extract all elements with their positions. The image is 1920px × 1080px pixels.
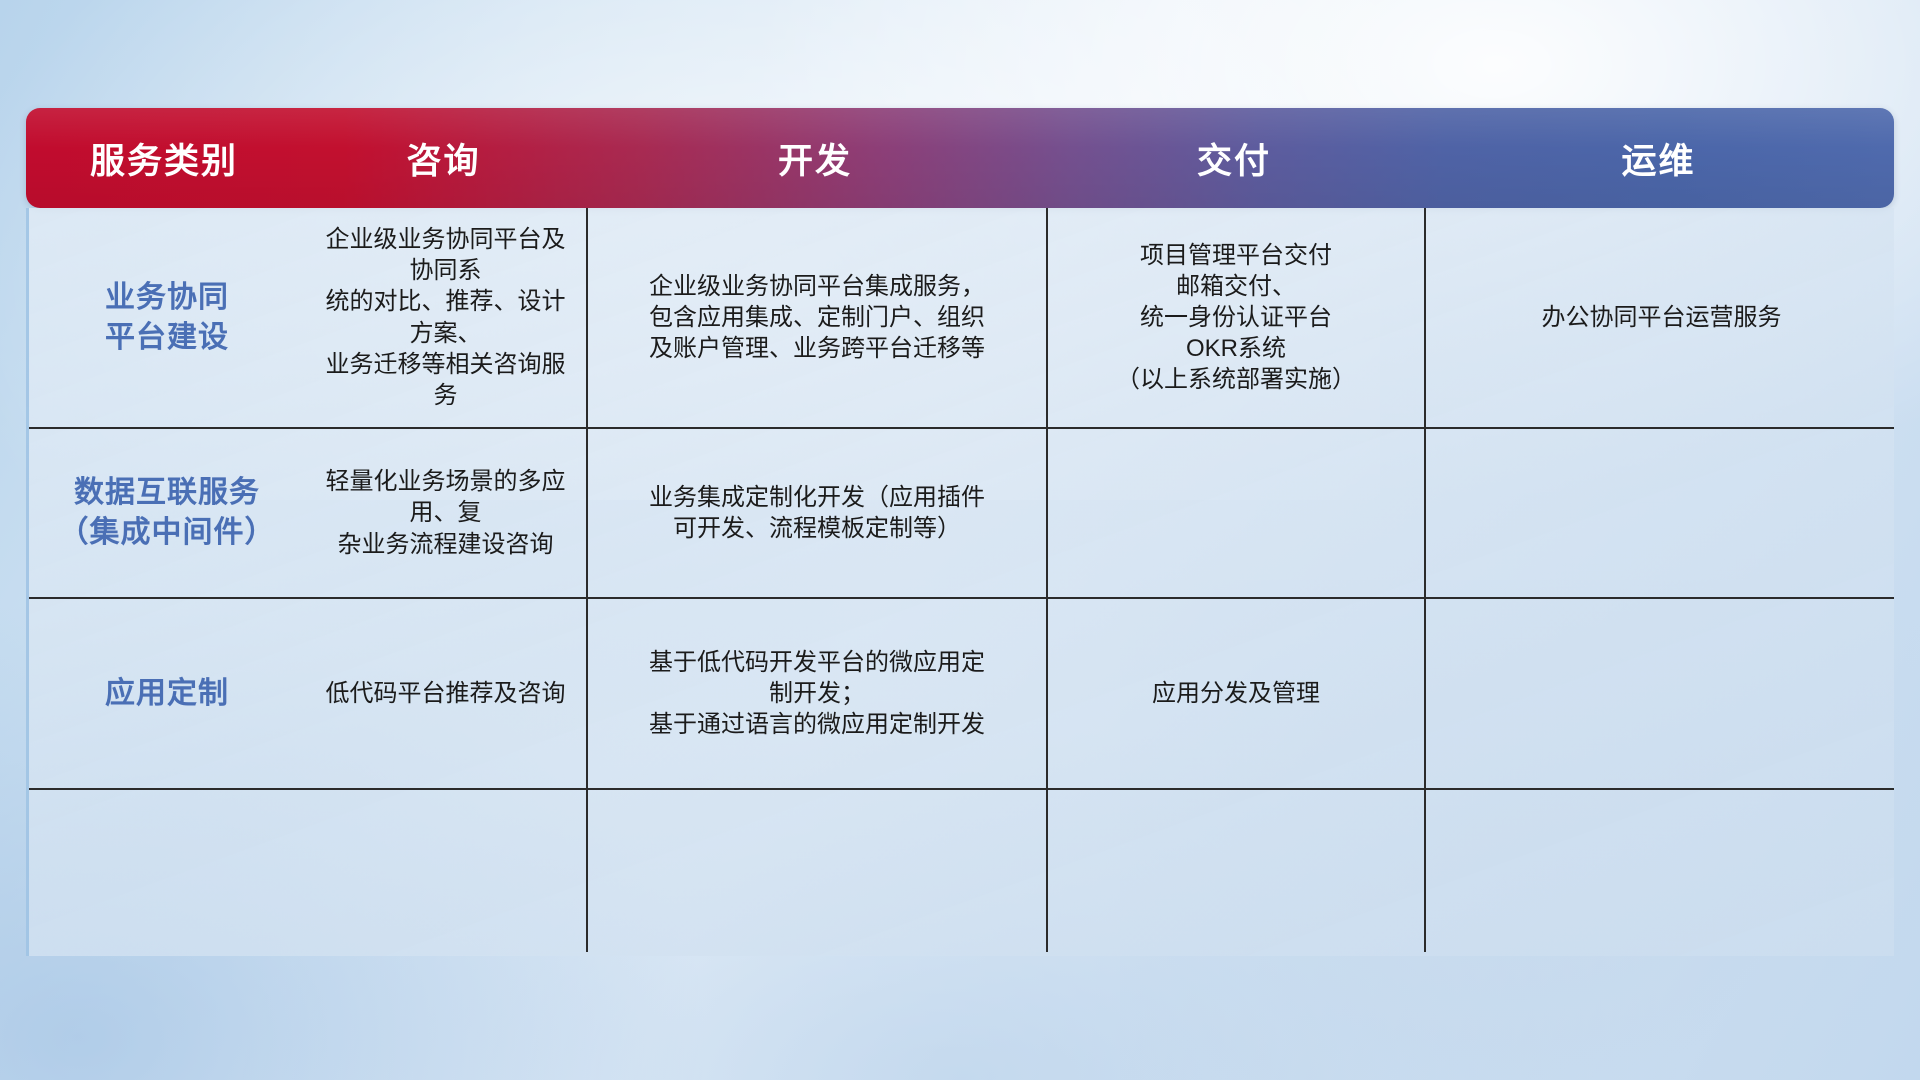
column-header-consulting: 咨询 bbox=[302, 133, 585, 184]
cell-development-r2: 业务集成定制化开发（应用插件 可开发、流程模板定制等） bbox=[588, 429, 1048, 597]
cell-development-r3: 基于低代码开发平台的微应用定 制开发； 基于通过语言的微应用定制开发 bbox=[588, 599, 1048, 788]
table-body: 业务协同 平台建设 企业级业务协同平台及协同系 统的对比、推荐、设计方案、 业务… bbox=[26, 208, 1894, 956]
column-header-development: 开发 bbox=[585, 133, 1045, 184]
cell-operations-r3 bbox=[1426, 599, 1897, 788]
row-label-data-interconnect: 数据互联服务 （集成中间件） bbox=[29, 429, 305, 597]
spacer-cell-category bbox=[29, 790, 305, 952]
table-row: 业务协同 平台建设 企业级业务协同平台及协同系 统的对比、推荐、设计方案、 业务… bbox=[29, 208, 1894, 429]
slide-canvas: 服务类别 咨询 开发 交付 运维 业务协同 平台建设 企业级业务协同平台及协同系… bbox=[0, 0, 1920, 1080]
table-row: 应用定制 低代码平台推荐及咨询 基于低代码开发平台的微应用定 制开发； 基于通过… bbox=[29, 599, 1894, 790]
row-label-business-collaboration: 业务协同 平台建设 bbox=[29, 208, 305, 427]
table-header-row: 服务类别 咨询 开发 交付 运维 bbox=[26, 108, 1894, 208]
spacer-cell-consulting bbox=[305, 790, 588, 952]
spacer-cell-delivery bbox=[1048, 790, 1426, 952]
cell-delivery-r3: 应用分发及管理 bbox=[1048, 599, 1426, 788]
cell-operations-r2 bbox=[1426, 429, 1897, 597]
cell-consulting-r3: 低代码平台推荐及咨询 bbox=[305, 599, 588, 788]
row-label-app-customization: 应用定制 bbox=[29, 599, 305, 788]
cell-delivery-r1: 项目管理平台交付 邮箱交付、 统一身份认证平台 OKR系统 （以上系统部署实施） bbox=[1048, 208, 1426, 427]
cell-operations-r1: 办公协同平台运营服务 bbox=[1426, 208, 1897, 427]
spacer-cell-operations bbox=[1426, 790, 1897, 952]
service-category-table: 服务类别 咨询 开发 交付 运维 业务协同 平台建设 企业级业务协同平台及协同系… bbox=[26, 108, 1894, 956]
cell-delivery-r2 bbox=[1048, 429, 1426, 597]
spacer-cell-development bbox=[588, 790, 1048, 952]
table-row: 数据互联服务 （集成中间件） 轻量化业务场景的多应用、复 杂业务流程建设咨询 业… bbox=[29, 429, 1894, 599]
column-header-category: 服务类别 bbox=[26, 133, 302, 184]
table-trailing-band bbox=[29, 790, 1894, 952]
cell-consulting-r2: 轻量化业务场景的多应用、复 杂业务流程建设咨询 bbox=[305, 429, 588, 597]
column-header-operations: 运维 bbox=[1423, 133, 1894, 184]
cell-consulting-r1: 企业级业务协同平台及协同系 统的对比、推荐、设计方案、 业务迁移等相关咨询服务 bbox=[305, 208, 588, 427]
column-header-delivery: 交付 bbox=[1045, 133, 1423, 184]
cell-development-r1: 企业级业务协同平台集成服务， 包含应用集成、定制门户、组织 及账户管理、业务跨平… bbox=[588, 208, 1048, 427]
